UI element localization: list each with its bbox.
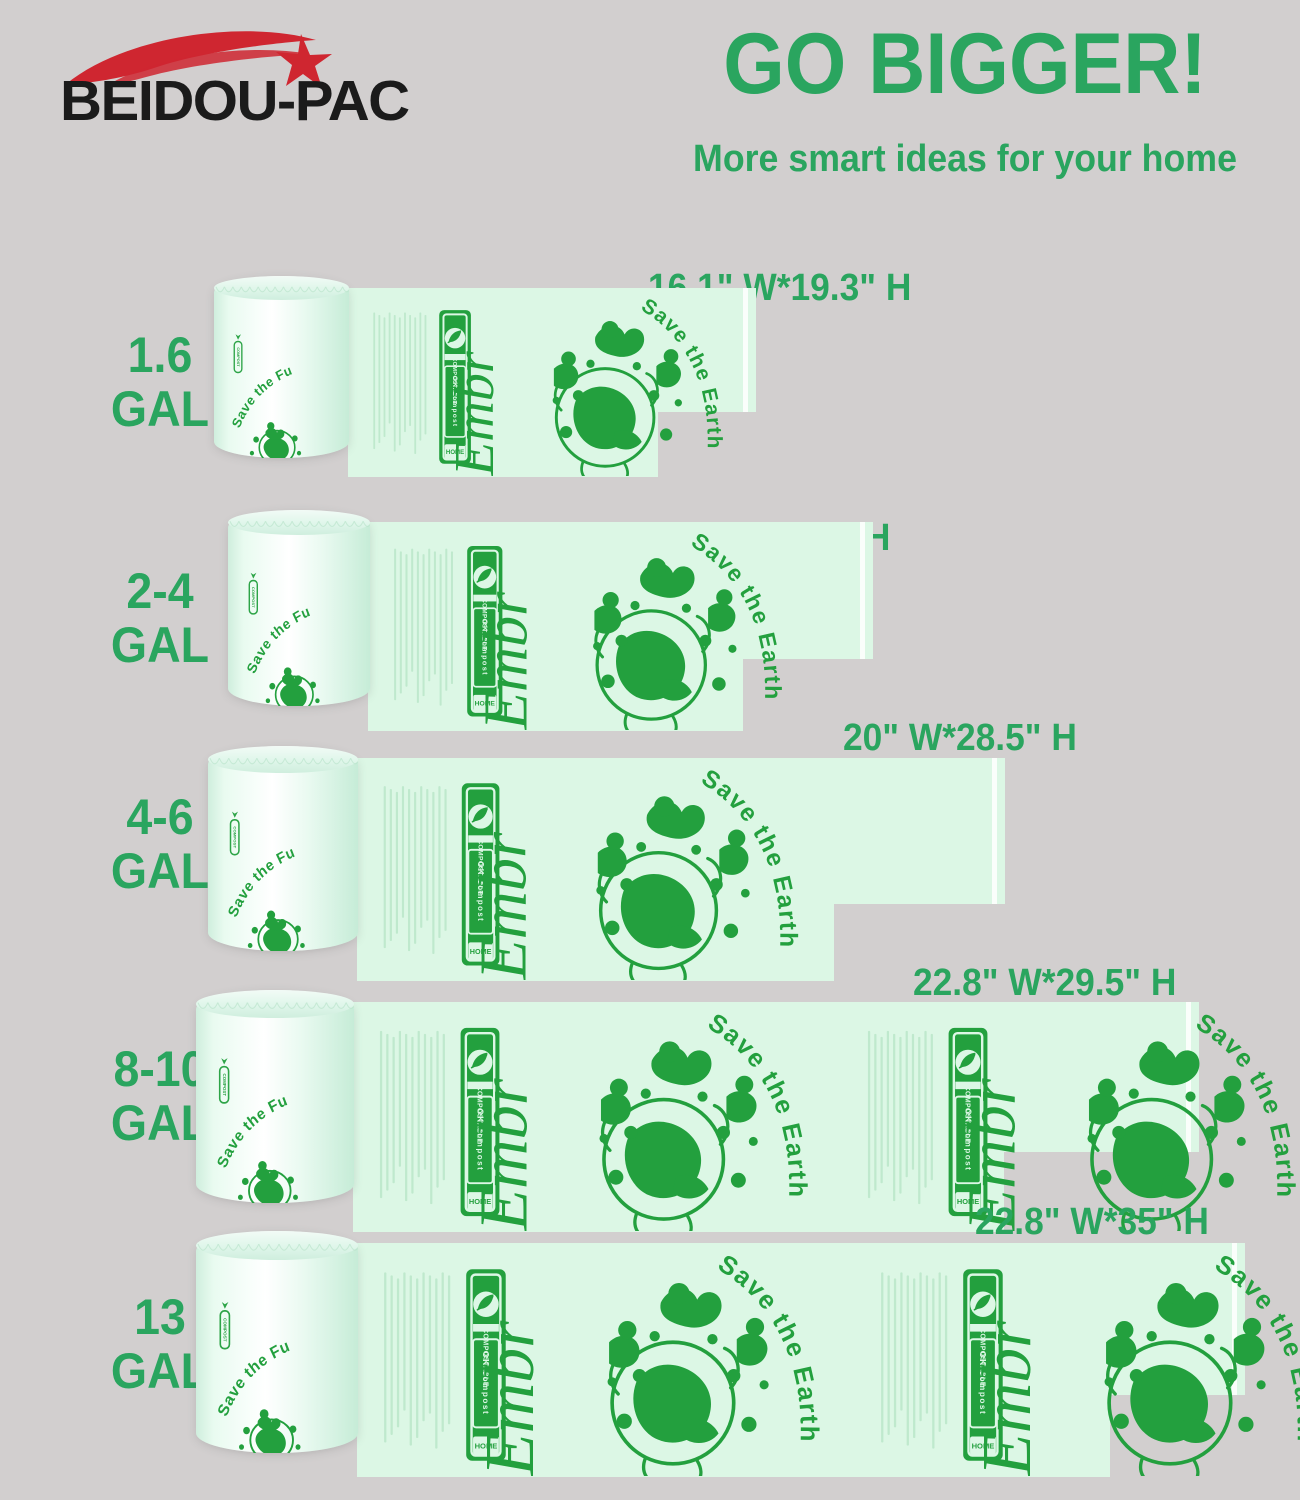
svg-text:Save the Future: Save the Future [196,1231,293,1419]
bag-edge-highlight [1232,1243,1237,1395]
bag-upper-panel [357,1243,1245,1395]
bag-lower-panel [357,1395,1110,1477]
bag-step-notch [1110,1395,1245,1477]
bag-roll: COMPOST Save the Future [196,1231,358,1453]
svg-text:COMPOST: COMPOST [223,1318,228,1342]
bag-image-13: COMPOSTABLE OK compost HOME Embr [0,0,1300,1500]
